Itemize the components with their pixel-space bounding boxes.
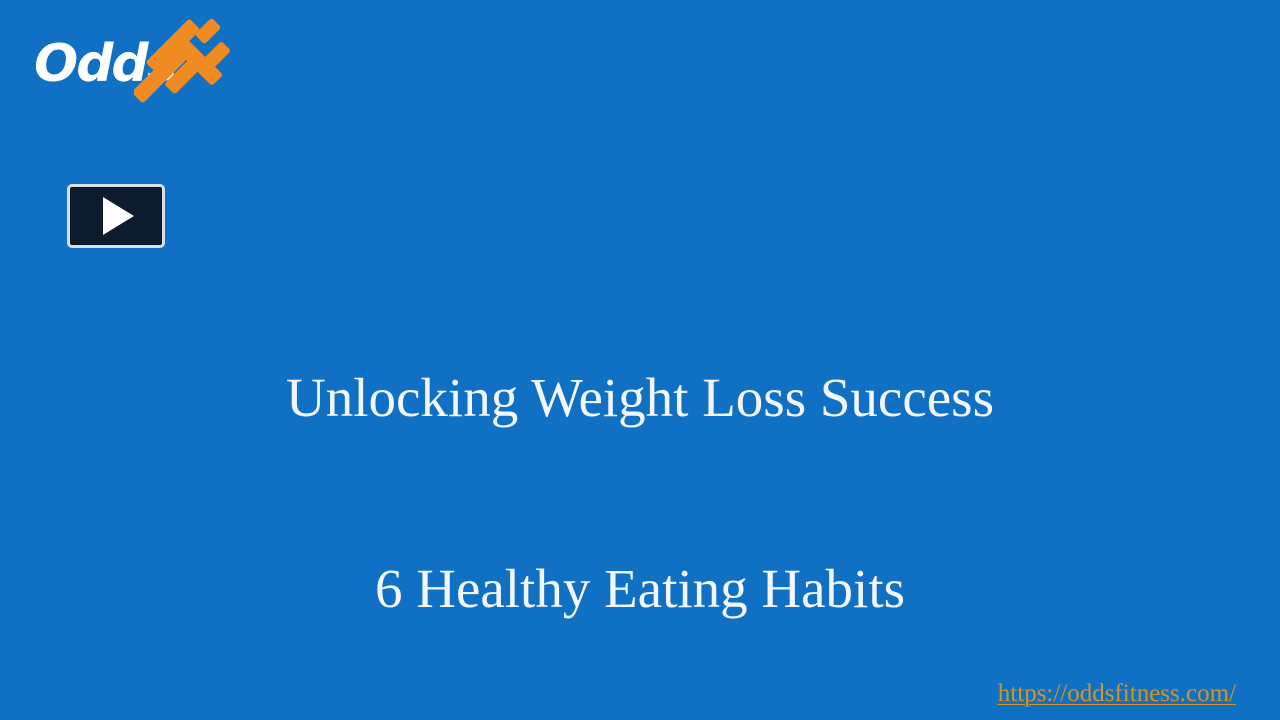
website-url-link[interactable]: https://oddsfitness.com/ [998, 680, 1236, 708]
slide-title-line-1: Unlocking Weight Loss Success [0, 366, 1280, 430]
slide-title-line-2: 6 Healthy Eating Habits [0, 557, 1280, 621]
running-figure-icon [134, 18, 234, 110]
slide-title: Unlocking Weight Loss Success 6 Healthy … [0, 238, 1280, 720]
brand-logo: Odds [34, 18, 234, 110]
play-icon [103, 197, 134, 235]
presentation-slide: Odds [0, 0, 1280, 720]
